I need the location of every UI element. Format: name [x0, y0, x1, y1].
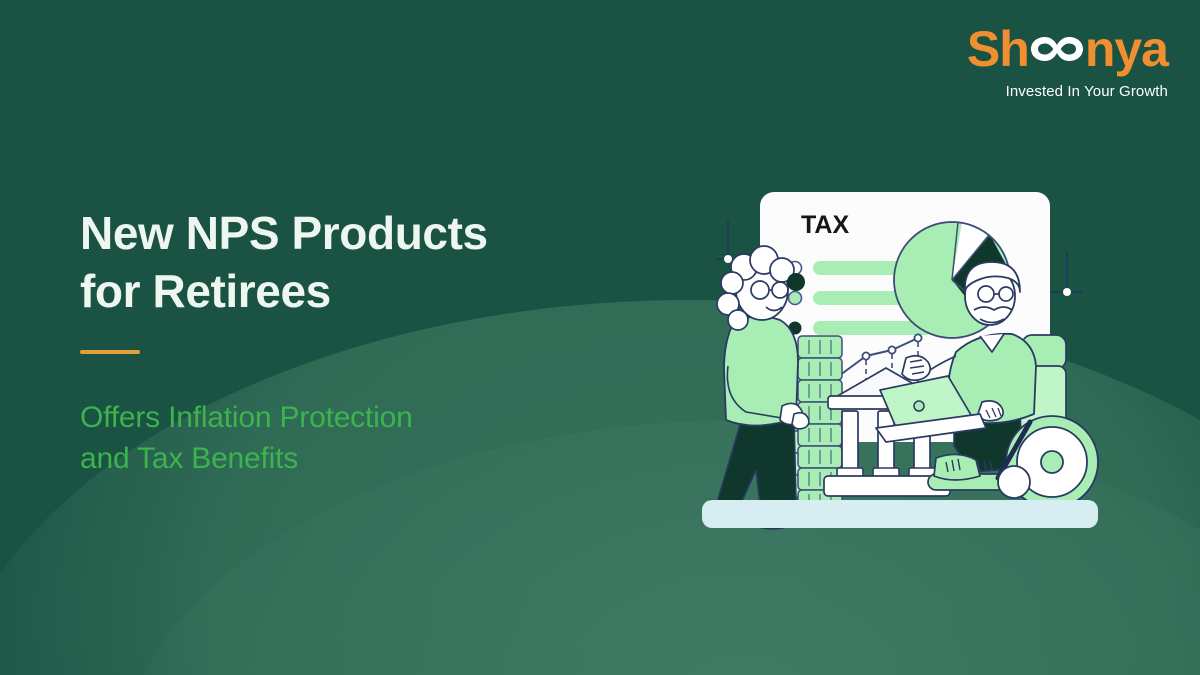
banner-canvas: Sh nya Invested In Your Growth New NPS P… [0, 0, 1200, 675]
page-title: New NPS Products for Retirees [80, 205, 640, 320]
brand-wordmark: Sh nya [967, 24, 1168, 74]
brand-name-prefix: Sh [967, 24, 1029, 74]
decor-corner-left [716, 220, 756, 259]
brand-logo[interactable]: Sh nya Invested In Your Growth [967, 24, 1168, 99]
character-senior-woman [710, 246, 809, 529]
accent-divider [80, 350, 140, 354]
hero-illustration: TAX [690, 170, 1110, 570]
brand-name-suffix: nya [1085, 24, 1168, 74]
platform-base [702, 500, 1098, 528]
infinity-icon [1030, 29, 1084, 69]
decor-dot-right [1063, 288, 1071, 296]
brand-tagline: Invested In Your Growth [967, 84, 1168, 99]
hero-copy: New NPS Products for Retirees Offers Inf… [80, 205, 640, 480]
tax-label: TAX [801, 211, 849, 239]
decor-dot-left [724, 255, 732, 263]
page-subtitle: Offers Inflation Protection and Tax Bene… [80, 397, 640, 480]
